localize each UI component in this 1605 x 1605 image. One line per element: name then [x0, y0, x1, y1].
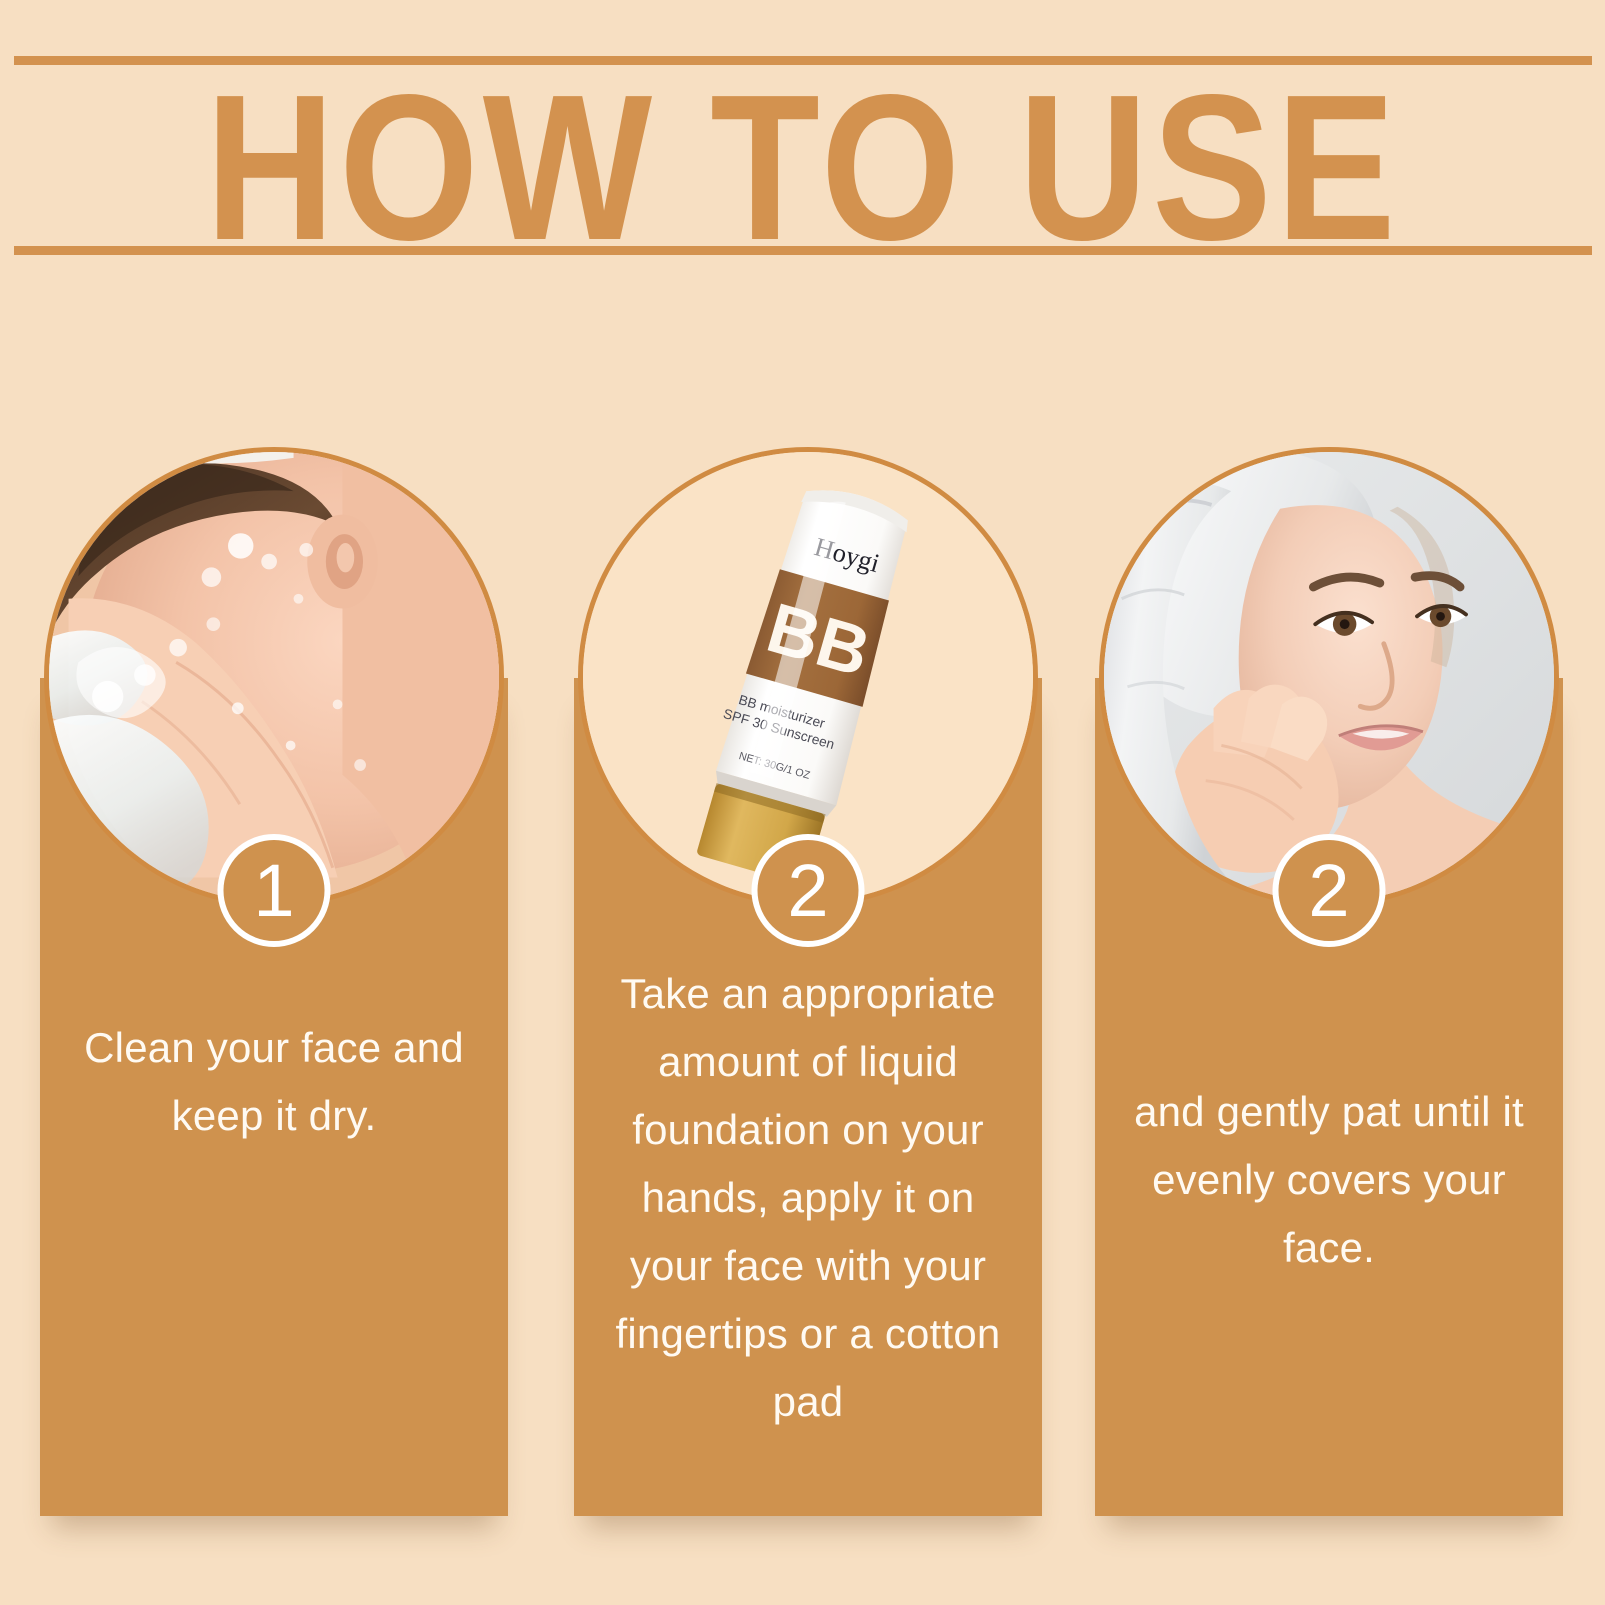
- step-2-number-badge: 2: [752, 834, 865, 947]
- step-1-number-badge: 1: [218, 834, 331, 947]
- step-card-2: BB Hoygi BB moisturizer SPF 30 Sunscreen…: [574, 678, 1042, 1516]
- step-3-caption: and gently pat until it evenly covers yo…: [1123, 1078, 1535, 1282]
- step-card-1: 1 Clean your face and keep it dry.: [40, 678, 508, 1516]
- step-1-caption: Clean your face and keep it dry.: [68, 1014, 480, 1150]
- steps-container: 1 Clean your face and keep it dry.: [0, 0, 1605, 1605]
- step-2-caption: Take an appropriate amount of liquid fou…: [602, 960, 1014, 1436]
- step-3-number-badge: 2: [1273, 834, 1386, 947]
- infographic-page: HOW TO USE: [0, 0, 1605, 1605]
- step-card-3: 2 and gently pat until it evenly covers …: [1095, 678, 1563, 1516]
